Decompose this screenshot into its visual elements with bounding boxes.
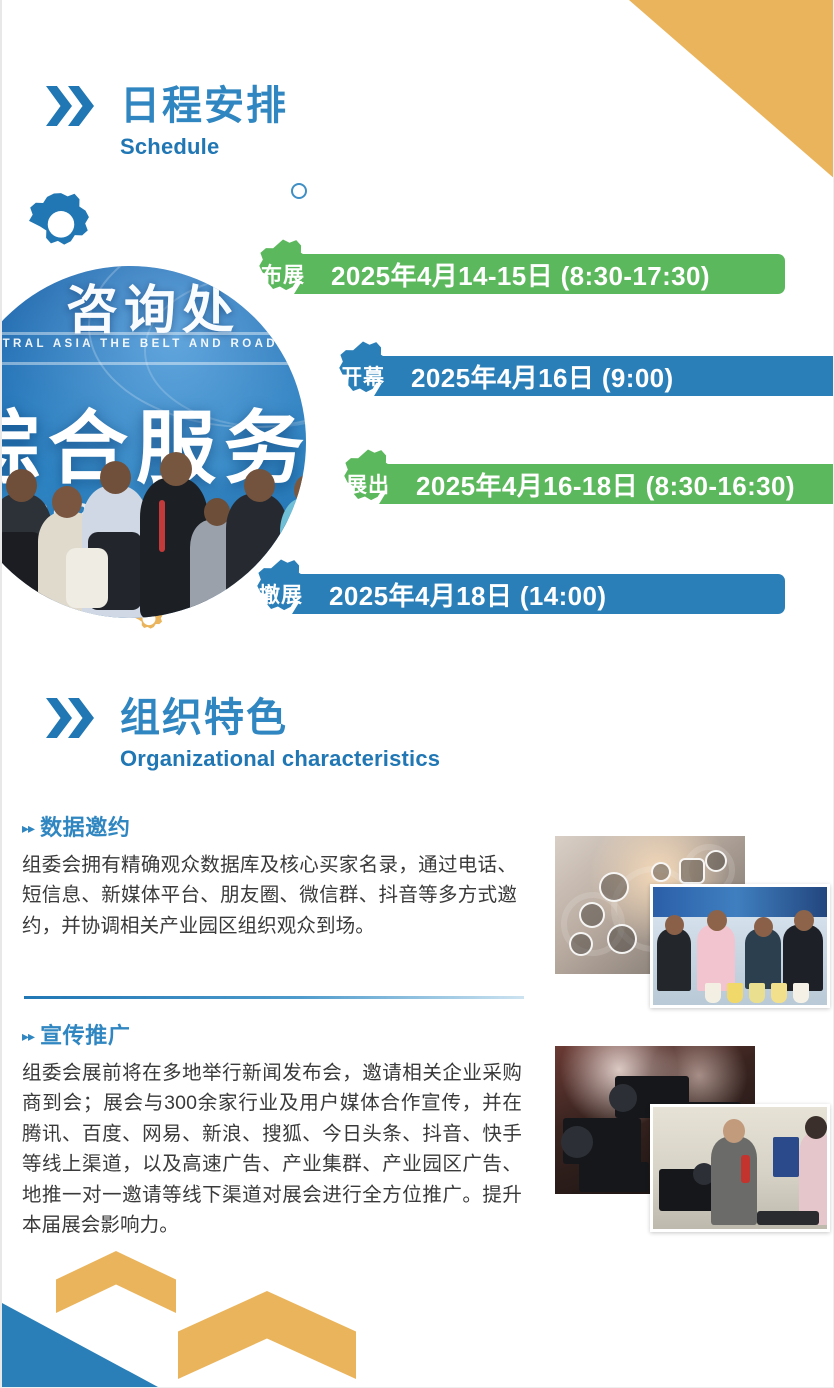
orange-chevron-small-icon [56,1251,176,1313]
timeline-badge-label: 开幕 [341,361,385,391]
double-triangle-icon: ▸▸ [22,1028,34,1045]
org-section-divider [24,996,524,999]
gear-badge-icon: 开幕 [327,340,399,412]
timeline-value-bar: 2025年4月16日 (9:00) [385,356,834,396]
exhibition-visitors-booth-photo [650,884,830,1008]
timeline-value-text: 2025年4月16日 (9:00) [411,358,674,395]
poster-page: 日程安排 Schedule 咨询处 CENTRAL ASIA THE BELT … [0,0,834,1388]
gear-badge-icon: 布展 [247,238,319,310]
timeline-value-bar: 2025年4月16-18日 (8:30-16:30) [390,464,834,504]
org-block-promotion: ▸▸ 宣传推广 组委会展前将在多地举行新闻发布会，邀请相关企业采购商到会；展会与… [22,1018,522,1240]
schedule-title-cn: 日程安排 [120,85,288,127]
bottom-left-blue-triangle [2,1303,158,1387]
org-block-body: 组委会拥有精确观众数据库及核心买家名录，通过电话、短信息、新媒体平台、朋友圈、微… [22,850,517,941]
double-chevron-right-icon [46,696,104,740]
tv-interview-photo [650,1104,830,1232]
timeline-value-text: 2025年4月14-15日 (8:30-17:30) [331,256,710,293]
timeline-row: 布展 2025年4月14-15日 (8:30-17:30) [247,238,785,310]
organization-title-en: Organizational characteristics [120,746,440,772]
schedule-section-header: 日程安排 Schedule [46,84,288,160]
media-promotion-collage [555,1046,830,1232]
timeline-value-bar: 2025年4月18日 (14:00) [303,574,785,614]
timeline-row: 开幕 2025年4月16日 (9:00) [327,340,834,412]
org-block-body: 组委会展前将在多地举行新闻发布会，邀请相关企业采购商到会；展会与300余家行业及… [22,1058,522,1240]
booth-banner-en-text: CENTRAL ASIA THE BELT AND ROAD ( [0,338,306,350]
org-block-title: 宣传推广 [40,1018,130,1050]
organization-title-cn: 组织特色 [120,697,288,739]
timeline-value-text: 2025年4月18日 (14:00) [329,576,606,613]
timeline-row: 撤展 2025年4月18日 (14:00) [245,558,785,630]
timeline-badge-label: 展出 [346,469,390,499]
top-right-orange-band [596,0,834,188]
schedule-title-en: Schedule [120,134,288,160]
organization-section-header: 组织特色 Organizational characteristics [46,696,440,772]
gear-badge-icon: 撤展 [245,558,317,630]
org-block-title: 数据邀约 [40,810,130,842]
timeline-badge-label: 撤展 [259,579,303,609]
data-invitation-collage [555,836,830,1008]
org-block-data-invitation: ▸▸ 数据邀约 组委会拥有精确观众数据库及核心买家名录，通过电话、短信息、新媒体… [22,810,517,941]
org-block-title-row: ▸▸ 宣传推广 [22,1018,522,1050]
timeline-badge-label: 布展 [261,259,305,289]
double-chevron-right-icon [46,84,104,128]
timeline-value-bar: 2025年4月14-15日 (8:30-17:30) [305,254,785,294]
timeline-value-text: 2025年4月16-18日 (8:30-16:30) [416,466,795,503]
blue-gear-large-icon [22,190,100,268]
timeline-row: 展出 2025年4月16-18日 (8:30-16:30) [332,448,834,520]
org-block-title-row: ▸▸ 数据邀约 [22,810,517,842]
double-triangle-icon: ▸▸ [22,820,34,837]
gear-badge-icon: 展出 [332,448,404,520]
small-circle-outline-icon [291,183,307,199]
orange-chevron-large-icon [178,1291,356,1379]
